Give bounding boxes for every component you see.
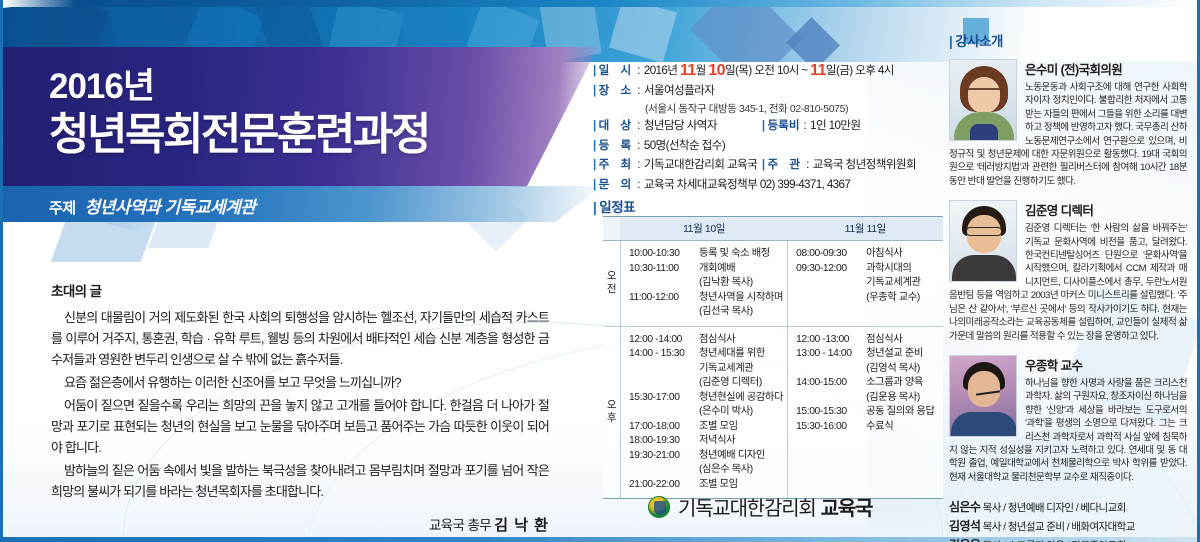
- schedule-event: 21:00-22:00조별 모임: [629, 478, 783, 493]
- venue-address: (서울시 동작구 대방동 345-1, 전화 02-810-5075): [645, 101, 945, 117]
- bg-top-strip: [3, 0, 1197, 7]
- brand-logo: 기독교대한감리회교육국: [648, 492, 872, 521]
- schedule-event: 18:00-19:30저녁식사: [629, 434, 783, 449]
- date-day2-highlight: 11: [810, 62, 826, 79]
- brand-dept: 교육국: [821, 498, 873, 520]
- bar-icon: |: [762, 156, 765, 175]
- info-row-registration: | 등 록 : 50명(선착순 접수): [593, 137, 945, 156]
- bar-icon: |: [593, 82, 596, 101]
- bar-icon: |: [593, 200, 596, 215]
- speaker-profile: 김준영 디렉터 김준영 디렉터는 '한 사람의 삶을 바꿔주는' 기독교 문화사…: [949, 200, 1187, 343]
- speakers-heading: |강사소개: [949, 30, 1187, 50]
- speaker-photo-kimjunyoung: [949, 200, 1017, 282]
- schedule-event: 17:00-18:00조별 모임: [629, 420, 783, 435]
- info-row-host: | 주 최 : 기독교대한감리회 교육국 | 주 관 : 교육국 청년정책위원회: [593, 156, 945, 175]
- short-speaker-name: 김운용: [949, 538, 980, 542]
- speakers-section: |강사소개 은수미 (전)국회의원 노동운동과 사회구조에 대해 연구한 사회학…: [949, 30, 1187, 542]
- bar-icon: |: [593, 137, 596, 156]
- info-label: 장 소: [599, 82, 636, 101]
- list-item: 심은수 목사 / 청년예배 디자인 / 베다니교회: [949, 498, 1187, 517]
- invitation-paragraph: 신분의 대물림이 거의 제도화된 한국 사회의 퇴행성을 암시하는 헬조선, 자…: [51, 307, 549, 370]
- date-month-highlight: 11: [680, 62, 696, 79]
- info-value-organizer: 교육국 청년정책위원회: [813, 156, 916, 175]
- table-row: 오후 12:00 -14:00점심식사 14:00 - 15:30청년세대를 위…: [603, 326, 943, 499]
- info-value-host: 기독교대한감리회 교육국: [644, 156, 762, 175]
- subtitle-value: 청년사역과 기독교세계관: [85, 198, 256, 217]
- schedule-event: 09:30-12:00과학시대의기독교세계관(우종학 교수): [796, 262, 939, 306]
- schedule-col-day2: 11월 11일: [788, 217, 943, 241]
- info-value-target: 청년담당 사역자: [644, 117, 762, 136]
- schedule-event: 14:00 - 15:30청년세대를 위한기독교세계관(김준영 디렉터): [629, 347, 783, 391]
- info-value-fee: 1인 10만원: [810, 117, 860, 136]
- schedule-corner-cell: [603, 217, 620, 241]
- schedule-event: 15:00-15:30공동 질의와 응답: [796, 405, 939, 420]
- schedule-cell-day1-afternoon: 12:00 -14:00점심식사 14:00 - 15:30청년세대를 위한기독…: [620, 326, 787, 499]
- subtitle: 주제청년사역과 기독교세계관: [49, 193, 255, 218]
- speaker-role: 교수: [1061, 359, 1083, 373]
- schedule-heading: |일정표: [593, 196, 635, 216]
- event-info-section: | 일 시 : 2016년 11월 10일(목) 오전 10시 ~ 11일(금)…: [593, 62, 945, 195]
- schedule-event: 13:00 - 14:00청년설교 준비(김영석 목사): [796, 347, 939, 376]
- info-label: 등 록: [599, 137, 636, 156]
- list-item: 김운용 목사 / 소그룹과 양육 / 강릉중앙교회: [949, 536, 1187, 542]
- info-row-venue: | 장 소 : 서울여성플라자: [593, 82, 945, 101]
- short-speaker-role: 목사: [983, 502, 1001, 514]
- invitation-paragraph: 요즘 젊은층에서 유행하는 이러한 신조어를 보고 무엇을 느끼십니까?: [51, 372, 549, 393]
- speaker-name-text: 은수미: [1025, 63, 1058, 77]
- invitation-signature: 교육국 총무 김 낙 환: [51, 514, 549, 535]
- short-speaker-role: 목사: [983, 521, 1001, 533]
- brand-name: 기독교대한감리회: [678, 498, 816, 520]
- info-label: 대 상: [599, 117, 636, 136]
- invitation-section: 초대의 글 신분의 대물림이 거의 제도화된 한국 사회의 퇴행성을 암시하는 …: [51, 280, 549, 535]
- date-day-highlight: 10: [708, 62, 725, 79]
- schedule-cell-day1-morning: 10:00-10:30등록 및 숙소 배정 10:30-11:00개회예배(김낙…: [620, 241, 787, 327]
- info-label: 문 의: [599, 176, 636, 195]
- bar-icon: |: [593, 176, 596, 195]
- schedule-event: 08:00-09:30아침식사: [796, 247, 939, 262]
- table-row: 오전 10:00-10:30등록 및 숙소 배정 10:30-11:00개회예배…: [603, 241, 943, 327]
- short-speaker-topic: 청년예배 디자인: [1008, 502, 1074, 514]
- info-label-organizer: 주 관: [768, 156, 805, 175]
- bar-icon: |: [593, 117, 596, 136]
- schedule-event: 11:00-12:00청년사역을 시작하며(김선국 목사): [629, 291, 783, 320]
- table-header-row: 11월 10일 11월 11일: [603, 217, 943, 241]
- short-speaker-church: 베다니교회: [1080, 502, 1125, 514]
- date-text: 일(금) 오후 4시: [826, 64, 894, 77]
- schedule-event: 10:00-10:30등록 및 숙소 배정: [629, 247, 783, 262]
- speaker-profile: 우종학 교수 하나님을 향한 사명과 사랑을 품은 크리스천 과학자. 삶의 구…: [949, 355, 1187, 484]
- short-speaker-church: 배화여자대학교: [1071, 521, 1134, 533]
- schedule-event: 15:30-17:00청년현실에 공감하다(은수미 박사): [629, 391, 783, 420]
- date-text: 월: [696, 64, 709, 77]
- speakers-heading-text: 강사소개: [955, 34, 1003, 49]
- schedule-event: 12:00 -13:00점심식사: [796, 333, 939, 348]
- info-label: 일 시: [599, 62, 636, 81]
- short-speaker-name: 심은수: [949, 500, 980, 514]
- info-label-fee: 등록비: [768, 117, 800, 136]
- info-row-target: | 대 상 : 청년담당 사역자 | 등록비 : 1인 10만원: [593, 117, 945, 136]
- speaker-profile: 은수미 (전)국회의원 노동운동과 사회구조에 대해 연구한 사회학자이자 정치…: [949, 59, 1187, 188]
- info-value-registration: 50명(선착순 접수): [644, 137, 725, 156]
- schedule-period-morning: 오전: [603, 241, 620, 327]
- bar-icon: |: [593, 156, 596, 175]
- speaker-role: (전)국회의원: [1061, 63, 1123, 77]
- info-row-contact: | 문 의 : 교육국 차세대교육정책부 02) 399-4371, 4367: [593, 176, 945, 195]
- schedule-event: 12:00 -14:00점심식사: [629, 333, 783, 348]
- date-text: 2016년: [644, 64, 680, 77]
- info-row-datetime: | 일 시 : 2016년 11월 10일(목) 오전 10시 ~ 11일(금)…: [593, 62, 945, 81]
- bar-icon: |: [593, 62, 596, 81]
- speaker-name-text: 우종학: [1025, 359, 1058, 373]
- short-speaker-name: 김영석: [949, 519, 980, 533]
- speaker-photo-woojonghak: [949, 355, 1017, 437]
- brand-text: 기독교대한감리회교육국: [678, 492, 872, 521]
- info-value-venue: 서울여성플라자: [644, 82, 714, 101]
- schedule-title-text: 일정표: [599, 200, 635, 215]
- short-speaker-topic: 청년설교 준비: [1008, 521, 1065, 533]
- subtitle-label: 주제: [49, 200, 76, 217]
- schedule-event: 19:30-21:00청년예배 디자인(심은수 목사): [629, 449, 783, 478]
- bar-icon: |: [762, 117, 765, 136]
- page-title: 청년목회전문훈련과정: [49, 98, 429, 162]
- speaker-role: 디렉터: [1061, 204, 1094, 218]
- schedule-cell-day2-morning: 08:00-09:30아침식사 09:30-12:00과학시대의기독교세계관(우…: [788, 241, 943, 327]
- schedule-period-afternoon: 오후: [603, 326, 620, 499]
- speaker-short-list: 심은수 목사 / 청년예배 디자인 / 베다니교회 김영석 목사 / 청년설교 …: [949, 498, 1187, 542]
- invitation-paragraph: 밤하늘의 짙은 어둠 속에서 빛을 발하는 북극성을 찾아내려고 몸부림치며 절…: [51, 460, 549, 502]
- info-value-datetime: 2016년 11월 10일(목) 오전 10시 ~ 11일(금) 오후 4시: [644, 62, 894, 81]
- poster-root: 2016년 청년목회전문훈련과정 주제청년사역과 기독교세계관 초대의 글 신분…: [0, 0, 1200, 542]
- signature-name: 김 낙 환: [494, 517, 549, 534]
- schedule-table: 11월 10일 11월 11일 오전 10:00-10:30등록 및 숙소 배정…: [603, 216, 943, 499]
- schedule-col-day1: 11월 10일: [620, 217, 787, 241]
- speaker-photo-eunsumi: [949, 59, 1017, 141]
- bar-icon: |: [949, 34, 952, 49]
- invitation-heading: 초대의 글: [51, 280, 549, 300]
- invitation-paragraph: 어둠이 짙으면 짙을수록 우리는 희망의 끈을 놓지 않고 고개를 들어야 합니…: [51, 395, 549, 458]
- info-label: 주 최: [599, 156, 636, 175]
- church-seal-icon: [648, 496, 670, 518]
- schedule-event: 10:30-11:00개회예배(김낙환 목사): [629, 262, 783, 291]
- date-text: 일(목) 오전 10시 ~: [725, 64, 810, 77]
- schedule-cell-day2-afternoon: 12:00 -13:00점심식사 13:00 - 14:00청년설교 준비(김영…: [788, 326, 943, 499]
- info-value-contact: 교육국 차세대교육정책부 02) 399-4371, 4367: [644, 176, 850, 195]
- speaker-name-text: 김준영: [1025, 204, 1058, 218]
- signature-role: 교육국 총무: [429, 518, 491, 533]
- schedule-event: 14:00-15:00소그룹과 양육(김운용 목사): [796, 376, 939, 405]
- list-item: 김영석 목사 / 청년설교 준비 / 배화여자대학교: [949, 517, 1187, 536]
- schedule-event: 15:30-16:00수료식: [796, 420, 939, 435]
